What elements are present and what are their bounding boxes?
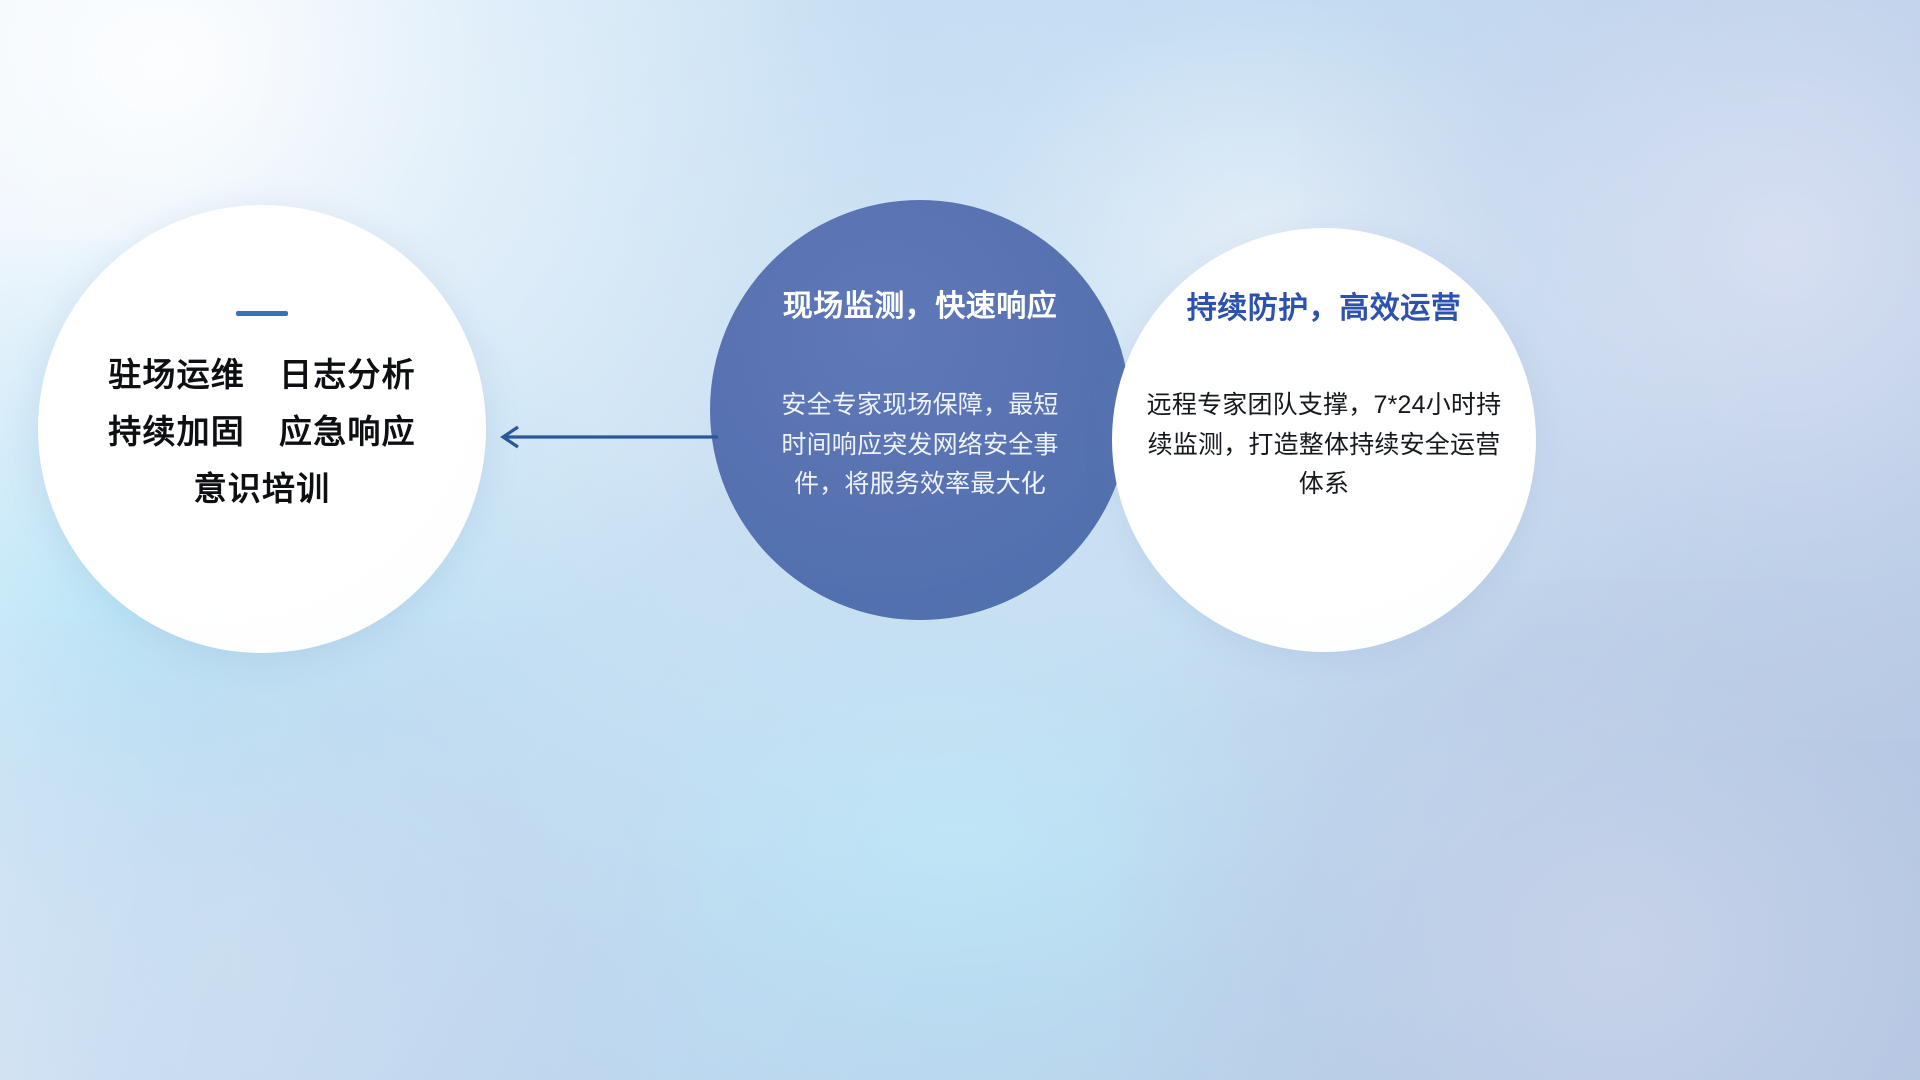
center-circle-body: 安全专家现场保障，最短时间响应突发网络安全事件，将服务效率最大化 [770, 386, 1070, 505]
left-circle-content: 驻场运维 日志分析 持续加固 应急响应 意识培训 [38, 205, 486, 505]
capability-row: 持续加固 应急响应 [108, 415, 416, 448]
capability-row: 驻场运维 日志分析 [108, 358, 416, 391]
capability-tag: 持续加固 [108, 415, 245, 448]
center-circle-title: 现场监测，快速响应 [783, 292, 1058, 322]
capability-tag: 日志分析 [279, 358, 416, 391]
right-circle-body: 远程专家团队支撑，7*24小时持续监测，打造整体持续安全运营体系 [1144, 386, 1504, 505]
capability-tag: 意识培训 [194, 472, 331, 505]
three-circle-diagram: 驻场运维 日志分析 持续加固 应急响应 意识培训 现场监测，快速响应 安全专家现… [0, 0, 1920, 1080]
capability-tag-rows: 驻场运维 日志分析 持续加固 应急响应 意识培训 [108, 358, 416, 505]
capability-tag: 驻场运维 [108, 358, 245, 391]
left-pointing-arrow-icon [490, 420, 720, 454]
right-circle-title: 持续防护，高效运营 [1187, 294, 1462, 324]
capability-circle-center[interactable]: 现场监测，快速响应 安全专家现场保障，最短时间响应突发网络安全事件，将服务效率最… [710, 200, 1130, 620]
capability-row: 意识培训 [194, 472, 331, 505]
capability-circle-left[interactable]: 驻场运维 日志分析 持续加固 应急响应 意识培训 [38, 205, 486, 653]
divider-dash [236, 311, 288, 316]
capability-tag: 应急响应 [279, 415, 416, 448]
capability-circle-right[interactable]: 持续防护，高效运营 远程专家团队支撑，7*24小时持续监测，打造整体持续安全运营… [1112, 228, 1536, 652]
